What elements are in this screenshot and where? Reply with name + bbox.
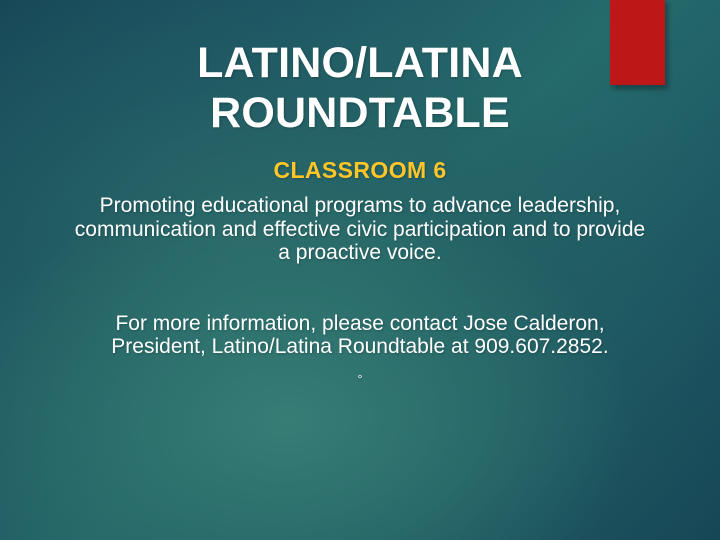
slide-title: LATINO/LATINA ROUNDTABLE (36, 0, 684, 138)
slide-subtitle: CLASSROOM 6 (36, 138, 684, 183)
presentation-slide: LATINO/LATINA ROUNDTABLE CLASSROOM 6 Pro… (0, 0, 720, 540)
mission-statement-text: Promoting educational programs to advanc… (74, 183, 646, 265)
degree-mark-glyph: ° (36, 359, 684, 385)
contact-information-text: For more information, please contact Jos… (74, 265, 646, 359)
slide-title-line-1: LATINO/LATINA (36, 38, 684, 88)
slide-title-line-2: ROUNDTABLE (36, 88, 684, 138)
slide-content: LATINO/LATINA ROUNDTABLE CLASSROOM 6 Pro… (0, 0, 720, 540)
